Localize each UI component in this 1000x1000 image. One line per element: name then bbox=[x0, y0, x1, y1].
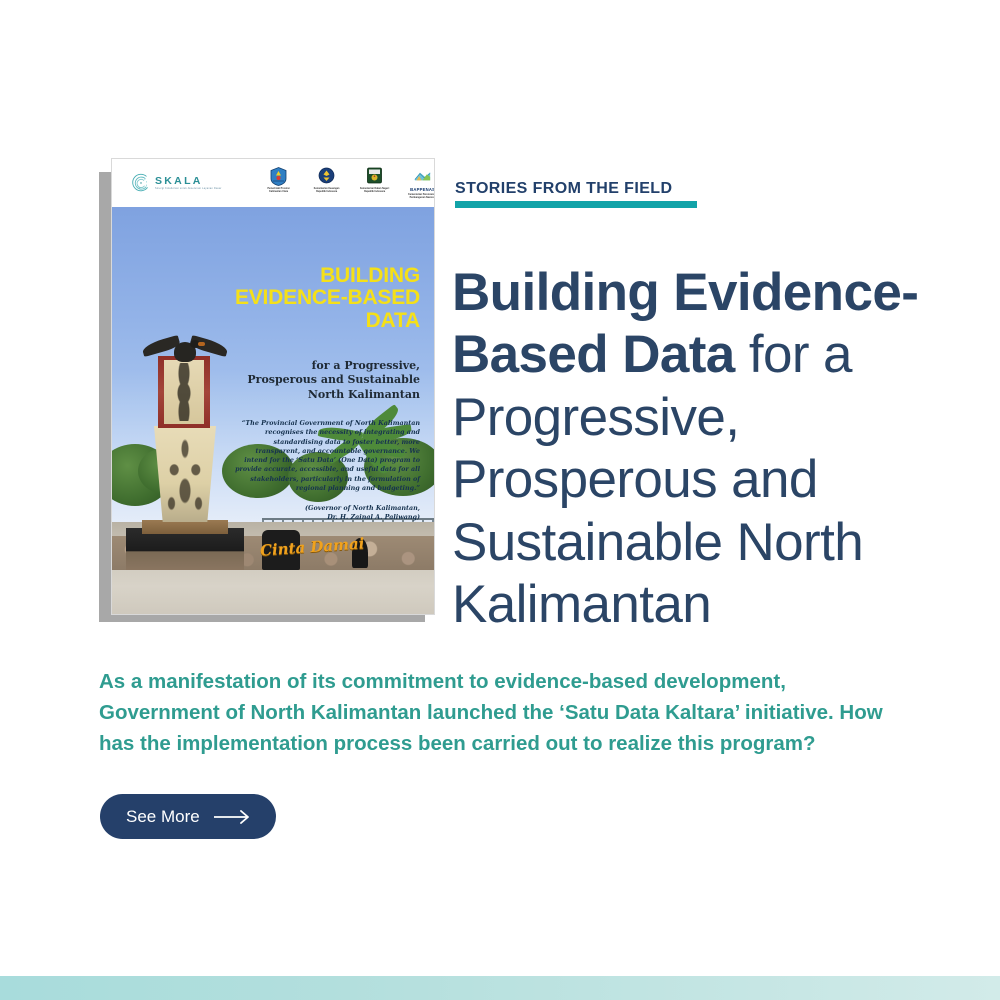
bappenas-wordmark: BAPPENAS bbox=[410, 187, 435, 192]
emblem-caption: Pemerintah Provinsi Kalimantan Utara bbox=[268, 188, 290, 194]
publication-cover[interactable]: SKALA Sinergi Kolaborasi untuk Akseleras… bbox=[99, 158, 433, 622]
monument-carving bbox=[166, 363, 202, 421]
ministry-finance-crest-icon bbox=[318, 167, 335, 186]
emblem-caption: Kementerian Dalam Negeri Republik Indone… bbox=[360, 188, 389, 194]
article-lede: As a manifestation of its commitment to … bbox=[99, 666, 889, 759]
emblem-caption: Kementerian Keuangan Republik Indonesia bbox=[314, 188, 340, 194]
cover-logo-strip: SKALA Sinergi Kolaborasi untuk Akseleras… bbox=[112, 159, 434, 207]
section-eyebrow: STORIES FROM THE FIELD bbox=[455, 180, 672, 198]
bappenas-logo-icon bbox=[414, 167, 431, 186]
cover-quote: “The Provincial Government of North Kali… bbox=[232, 419, 420, 493]
monument-filigree bbox=[158, 432, 212, 516]
skala-wordmark: SKALA bbox=[155, 176, 222, 187]
page-title: Building Evidence-Based Data for a Progr… bbox=[452, 262, 932, 637]
cover-quote-attribution: (Governor of North Kalimantan, Dr. H. Za… bbox=[232, 504, 420, 523]
north-kalimantan-crest-icon bbox=[270, 167, 287, 186]
eagle-beak bbox=[198, 342, 205, 346]
partner-emblems: Pemerintah Provinsi Kalimantan Utara Kem… bbox=[260, 167, 435, 200]
emblem-item: Kementerian Dalam Negeri Republik Indone… bbox=[356, 167, 394, 194]
arrow-right-icon bbox=[214, 810, 254, 824]
cover-photograph: Cinta Damai BUILDING EVIDENCE-BASED DATA… bbox=[112, 207, 434, 614]
see-more-label: See More bbox=[126, 807, 200, 827]
emblem-item: Pemerintah Provinsi Kalimantan Utara bbox=[260, 167, 298, 194]
emblem-item: BAPPENAS Kementerian Perencanaan Pembang… bbox=[404, 167, 435, 200]
emblem-caption: Kementerian Perencanaan Pembangunan Nasi… bbox=[404, 194, 435, 200]
cover-subtitle: for a Progressive, Prosperous and Sustai… bbox=[206, 359, 420, 402]
emblem-item: Kementerian Keuangan Republik Indonesia bbox=[308, 167, 346, 194]
skala-spiral-icon bbox=[130, 172, 152, 194]
cover-front: SKALA Sinergi Kolaborasi untuk Akseleras… bbox=[111, 158, 435, 615]
cover-title: BUILDING EVIDENCE-BASED DATA bbox=[172, 265, 420, 332]
eyebrow-underline-rule bbox=[455, 201, 697, 208]
monument-plinth bbox=[142, 520, 228, 534]
ministry-home-affairs-crest-icon bbox=[366, 167, 383, 186]
skala-tagline: Sinergi Kolaborasi untuk Akselerasi Laya… bbox=[155, 188, 222, 190]
skala-logo: SKALA Sinergi Kolaborasi untuk Akseleras… bbox=[130, 172, 222, 194]
see-more-button[interactable]: See More bbox=[100, 794, 276, 839]
monument-base bbox=[126, 528, 244, 570]
footer-accent-band bbox=[0, 976, 1000, 1000]
article-card: SKALA Sinergi Kolaborasi untuk Akseleras… bbox=[0, 0, 1000, 1000]
